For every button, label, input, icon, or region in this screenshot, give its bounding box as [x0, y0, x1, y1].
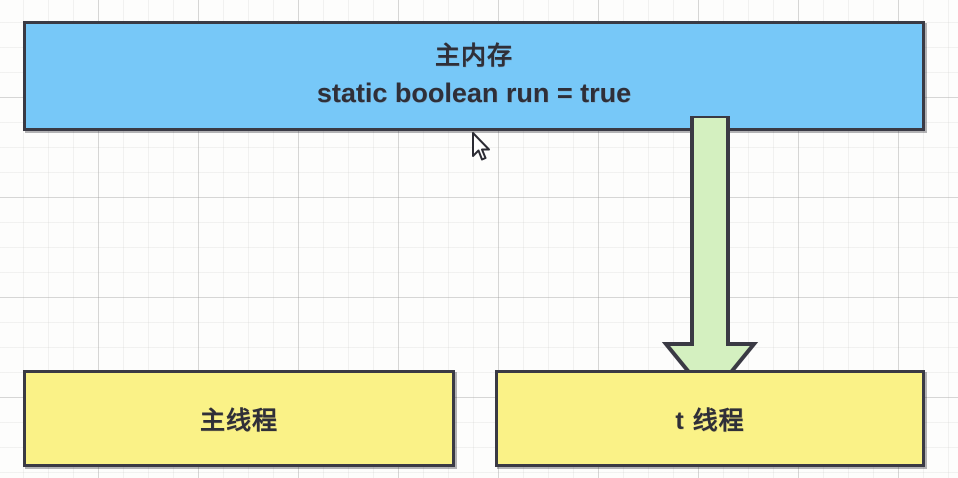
main-memory-code: static boolean run = true — [317, 76, 631, 111]
mouse-cursor-icon — [471, 132, 493, 164]
read-arrow-shape — [666, 116, 754, 398]
main-thread-label: 主线程 — [200, 401, 278, 437]
t-thread-node[interactable]: t 线程 — [495, 370, 925, 467]
cursor-arrow-shape — [473, 133, 489, 160]
t-thread-label: t 线程 — [675, 401, 744, 437]
main-thread-node[interactable]: 主线程 — [23, 370, 455, 467]
main-memory-title: 主内存 — [435, 41, 513, 72]
diagram-canvas: 主内存 static boolean run = true 主线程 t 线程 — [0, 0, 958, 478]
main-memory-node[interactable]: 主内存 static boolean run = true — [23, 21, 925, 131]
read-arrow-icon — [658, 116, 762, 400]
